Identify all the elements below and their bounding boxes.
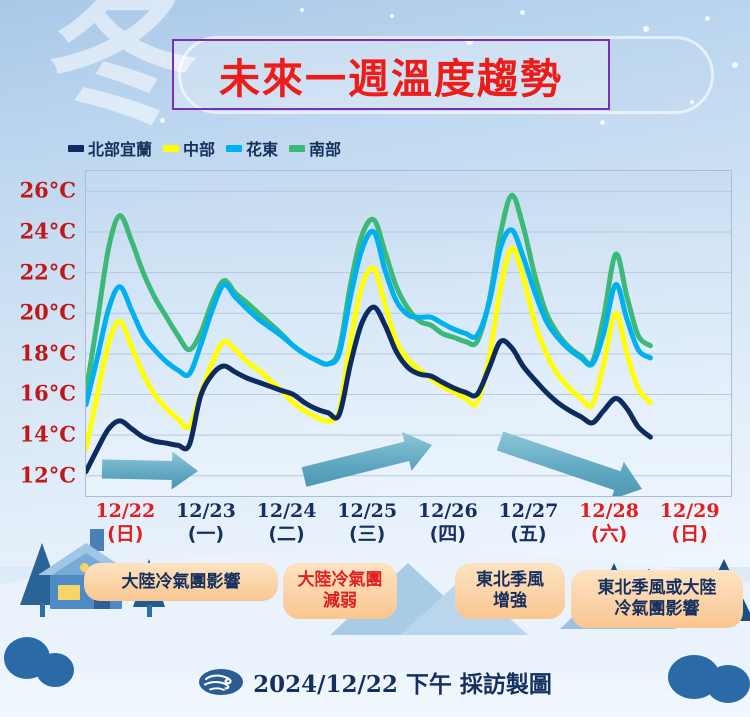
y-axis-tick-label: 12°C bbox=[20, 462, 76, 487]
callout-text-line1: 東北季風或大陸 bbox=[598, 578, 717, 599]
snow-dot bbox=[732, 62, 738, 68]
x-axis-column-12-28: 12/28(六) bbox=[566, 500, 652, 546]
x-axis-column-12-24: 12/24(二) bbox=[244, 500, 330, 546]
callout-ne-monsoon-strengthen: 東北季風 增強 bbox=[455, 563, 565, 619]
trend-arrow-flat bbox=[102, 452, 198, 490]
chart-svg bbox=[86, 171, 731, 496]
callout-cold-air-mass: 大陸冷氣團影響 bbox=[84, 563, 278, 601]
footer-text: 2024/12/22 下午 採訪製圖 bbox=[253, 665, 552, 699]
x-axis-column-12-26: 12/26(四) bbox=[405, 500, 491, 546]
callout-text-line1: 大陸冷氣團 bbox=[298, 570, 383, 591]
snow-dot bbox=[705, 16, 710, 21]
callout-cold-air-weaken: 大陸冷氣團 減弱 bbox=[283, 563, 397, 619]
callout-ne-monsoon-or-cold-air: 東北季風或大陸 冷氣團影響 bbox=[571, 570, 743, 628]
y-axis-tick-label: 16°C bbox=[20, 381, 76, 406]
snow-dot bbox=[300, 8, 304, 12]
snow-dot bbox=[600, 120, 605, 125]
callout-text-line2: 冷氣團影響 bbox=[615, 599, 700, 620]
x-axis-date: 12/26 bbox=[405, 500, 491, 522]
series-line-北部宜蘭 bbox=[86, 307, 650, 472]
x-axis-column-12-29: 12/29(日) bbox=[647, 500, 733, 546]
x-axis-weekday: (日) bbox=[82, 522, 168, 546]
x-axis-weekday: (二) bbox=[244, 522, 330, 546]
snow-dot bbox=[520, 10, 525, 15]
y-axis: 12°C14°C16°C18°C20°C22°C24°C26°C bbox=[0, 155, 84, 500]
x-axis-column-12-25: 12/25(三) bbox=[324, 500, 410, 546]
trend-arrow-up bbox=[302, 432, 432, 487]
snow-dot bbox=[160, 118, 165, 123]
x-axis-date: 12/27 bbox=[485, 500, 571, 522]
x-axis-date: 12/24 bbox=[244, 500, 330, 522]
x-axis-weekday: (日) bbox=[647, 522, 733, 546]
x-axis-column-12-23: 12/23(一) bbox=[163, 500, 249, 546]
y-axis-tick-label: 14°C bbox=[20, 422, 76, 447]
x-axis-date: 12/29 bbox=[647, 500, 733, 522]
tree-trunk bbox=[147, 605, 152, 617]
x-axis-date: 12/22 bbox=[82, 500, 168, 522]
y-axis-tick-label: 24°C bbox=[20, 218, 76, 243]
y-axis-tick-label: 22°C bbox=[20, 259, 76, 284]
chart-plot-area bbox=[85, 170, 732, 497]
legend-swatch-hualien-taitung bbox=[226, 145, 242, 152]
x-axis-weekday: (三) bbox=[324, 522, 410, 546]
y-axis-tick-label: 20°C bbox=[20, 300, 76, 325]
chart-trend-arrows bbox=[102, 432, 642, 497]
x-axis-weekday: (一) bbox=[163, 522, 249, 546]
snow-dot bbox=[643, 26, 649, 32]
x-axis-date: 12/25 bbox=[324, 500, 410, 522]
y-axis-tick-label: 18°C bbox=[20, 340, 76, 365]
x-axis-weekday: (五) bbox=[485, 522, 571, 546]
x-axis-weekday: (四) bbox=[405, 522, 491, 546]
tree-trunk bbox=[40, 603, 45, 617]
snow-dot bbox=[390, 14, 394, 18]
temperature-chart: 12°C14°C16°C18°C20°C22°C24°C26°C bbox=[0, 155, 750, 500]
snow-dot bbox=[690, 100, 694, 104]
x-axis-column-12-22: 12/22(日) bbox=[82, 500, 168, 546]
series-line-花東 bbox=[86, 230, 650, 405]
cwa-wind-logo bbox=[198, 667, 244, 697]
chart-series-lines bbox=[86, 195, 650, 471]
x-axis-weekday: (六) bbox=[566, 522, 652, 546]
y-axis-tick-label: 26°C bbox=[20, 178, 76, 203]
pine-tree bbox=[20, 543, 64, 605]
x-axis-column-12-27: 12/27(五) bbox=[485, 500, 571, 546]
legend-swatch-south bbox=[289, 145, 305, 152]
callout-text-line1: 東北季風 bbox=[476, 570, 544, 591]
trend-arrow-down bbox=[497, 432, 642, 497]
callout-text: 大陸冷氣團影響 bbox=[122, 572, 241, 593]
callout-text-line2: 減弱 bbox=[323, 591, 357, 612]
callout-text-line2: 增強 bbox=[493, 591, 527, 612]
legend-swatch-central bbox=[163, 145, 179, 152]
legend-swatch-north-yilan bbox=[68, 145, 84, 152]
footer: 2024/12/22 下午 採訪製圖 bbox=[0, 665, 750, 699]
x-axis: 12/22(日)12/23(一)12/24(二)12/25(三)12/26(四)… bbox=[85, 500, 730, 558]
house-window bbox=[58, 585, 80, 600]
page-title: 未來一週溫度趨勢 bbox=[172, 39, 610, 110]
x-axis-date: 12/23 bbox=[163, 500, 249, 522]
page-title-text: 未來一週溫度趨勢 bbox=[219, 45, 563, 105]
x-axis-date: 12/28 bbox=[566, 500, 652, 522]
